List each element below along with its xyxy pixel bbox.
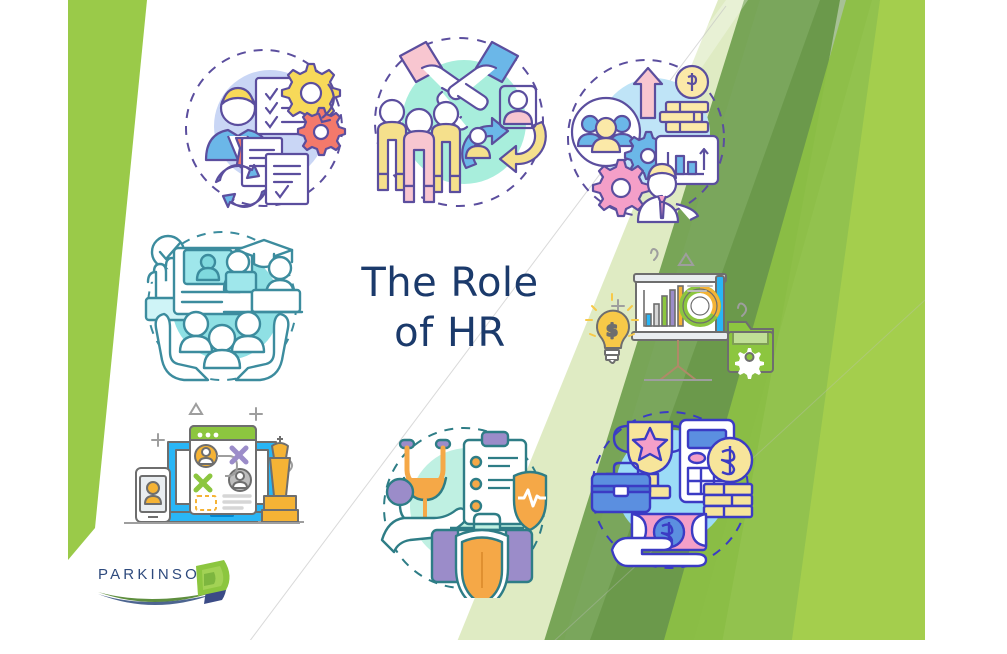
workforce-analytics-icon <box>562 52 738 228</box>
slide-canvas: The Role of HR <box>0 0 1007 654</box>
slide-title: The Role of HR <box>330 258 570 358</box>
compensation-benefits-icon <box>584 404 760 580</box>
hr-strategy-icon <box>114 392 310 538</box>
hr-administration-icon <box>178 42 350 214</box>
business-reporting-icon: $ <box>578 244 774 384</box>
parkinson-logo: PARKINSON <box>90 548 260 626</box>
talent-development-icon <box>134 228 310 384</box>
svg-text:$: $ <box>606 321 618 341</box>
employee-relations-icon <box>366 26 552 212</box>
logo-mark <box>90 548 260 626</box>
employee-wellbeing-icon <box>374 418 554 598</box>
